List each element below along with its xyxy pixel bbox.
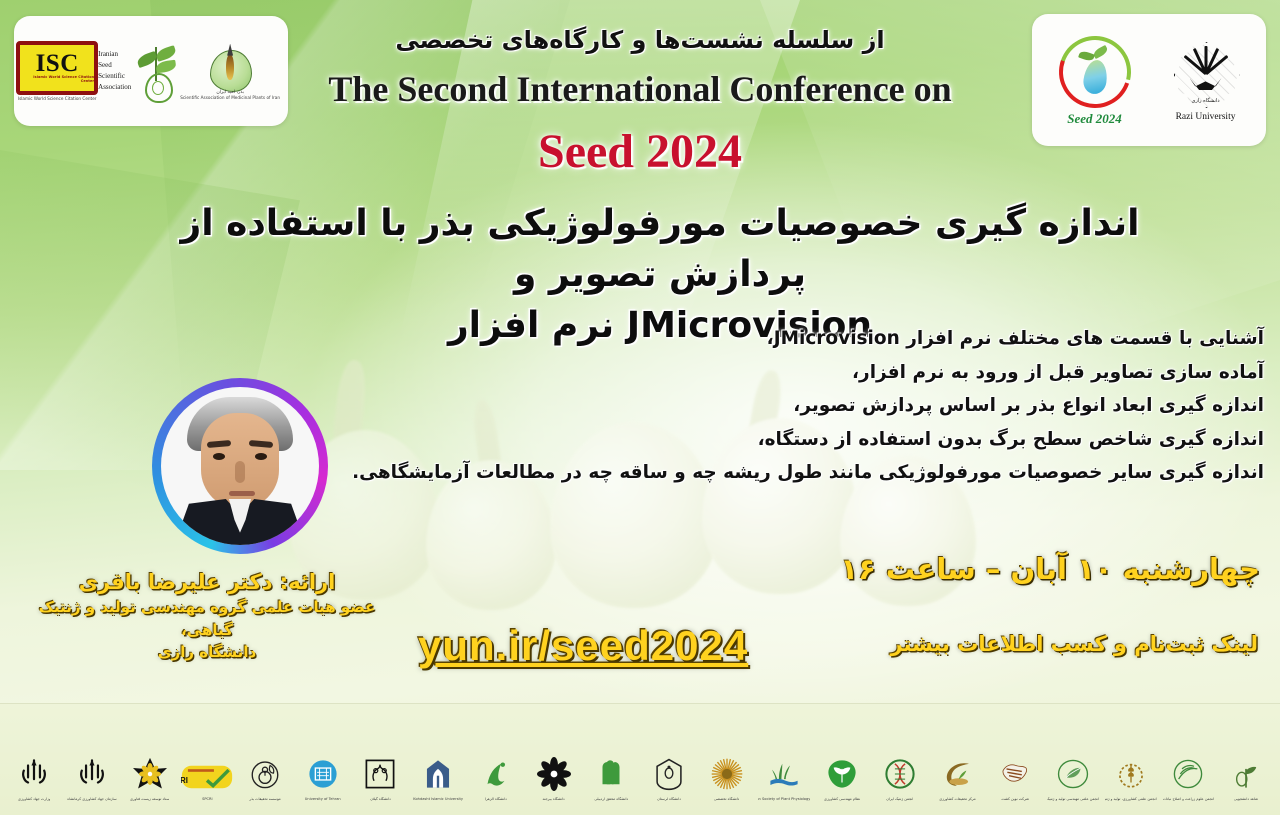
sponsor-caption: موسسه تحقیقات بذر bbox=[249, 797, 280, 801]
sponsor-gear-wheat: انجمن علمی کشاورزی، تولید و ژنتیک گیاهی bbox=[1105, 718, 1157, 802]
registration-label: لینک ثبت‌نام و کسب اطلاعات بیشتر bbox=[890, 632, 1258, 656]
sponsor-plant-physiology: Iranian Society of Plant Physiology bbox=[758, 718, 810, 802]
sponsor-caption: مرکز تحقیقات کشاورزی bbox=[939, 797, 975, 801]
sponsor-dna-circle: انجمن ژنتیک ایران bbox=[874, 718, 926, 802]
sponsor-caption: دانشگاه الزهرا bbox=[485, 797, 507, 801]
sponsor-caption: دانشگاه گیلان bbox=[370, 797, 391, 801]
sponsor-guilan-university: دانشگاه گیلان bbox=[354, 718, 406, 802]
list-item: اندازه گیری ابعاد انواع بذر بر اساس پردا… bbox=[524, 397, 1264, 416]
sponsor-green-tulip: دانشگاه محقق اردبیلی bbox=[585, 718, 637, 802]
oval-leaf-icon bbox=[1056, 757, 1090, 795]
avatar bbox=[152, 378, 328, 554]
sponsor-jahad-keshavarzi: سازمان جهاد کشاورزی کرمانشاه bbox=[66, 718, 118, 802]
gate-icon bbox=[421, 757, 455, 795]
list-item: آشنایی با قسمت های مختلف نرم افزار JMicr… bbox=[524, 330, 1264, 349]
sponsor-caption: University of Tehran bbox=[305, 797, 341, 801]
gear-wheat-icon bbox=[1114, 757, 1148, 795]
sponsor-oval-leaf: انجمن علمی مهندسی تولید و ژنتیک گیاهی ای… bbox=[1047, 718, 1099, 802]
sponsor-caption: وزارت جهاد کشاورزی bbox=[18, 797, 50, 801]
sponsor-star-flower: ستاد توسعه زیست فناوری bbox=[124, 718, 176, 802]
calligraphy-icon bbox=[479, 757, 513, 795]
registration-link[interactable]: yun.ir/seed2024 bbox=[418, 622, 748, 670]
conference-poster: بذر، امید ایران Scientific Association o… bbox=[0, 0, 1280, 815]
sponsor-caption: ستاد توسعه زیست فناوری bbox=[130, 797, 169, 801]
sponsor-caption: دانشگاه محقق اردبیلی bbox=[594, 797, 628, 801]
circle-blue-icon bbox=[306, 757, 340, 795]
sponsor-caption: Kohdasht Islamic University bbox=[413, 797, 463, 801]
list-item: آماده سازی تصاویر قبل از ورود به نرم افز… bbox=[524, 364, 1264, 383]
sponsor-caption: انجمن علوم زراعت و اصلاح نباتات bbox=[1163, 797, 1214, 801]
list-item: اندازه گیری شاخص سطح برگ بدون استفاده از… bbox=[524, 431, 1264, 450]
sponsor-seed-institute: موسسه تحقیقات بذر bbox=[239, 718, 291, 802]
sponsor-ministry-agriculture: وزارت جهاد کشاورزی bbox=[8, 718, 60, 802]
sponsor-logo-strip: شاهد دانشجوییانجمن علوم زراعت و اصلاح نب… bbox=[0, 703, 1280, 815]
sponsor-green-leaf-shield: نظام مهندسی کشاورزی bbox=[816, 718, 868, 802]
map-icon bbox=[998, 757, 1032, 795]
circle-calligraphy-icon bbox=[1171, 757, 1205, 795]
sunflower-icon bbox=[710, 757, 744, 795]
conference-brand: Seed 2024 bbox=[0, 124, 1280, 179]
sponsor-caption: SPCRI bbox=[202, 797, 213, 801]
svg-text:SPCRI: SPCRI bbox=[181, 776, 188, 785]
sponsor-caption: نظام مهندسی کشاورزی bbox=[824, 797, 860, 801]
sponsor-black-flower: دانشگاه بیرجند bbox=[528, 718, 580, 802]
title-line-1: اندازه گیری خصوصیات مورفولوژیکی بذر با ا… bbox=[110, 198, 1210, 300]
sponsor-alzahra-university: دانشگاه الزهرا bbox=[470, 718, 522, 802]
sponsor-caption: دانشگاه بیرجند bbox=[542, 797, 564, 801]
sponsor-caption: انجمن علمی مهندسی تولید و ژنتیک گیاهی ای… bbox=[1047, 797, 1099, 801]
sponsor-map-iran: شرکت نوین کشت bbox=[989, 718, 1041, 802]
flower-black-icon bbox=[537, 757, 571, 795]
sponsor-tehran-university: University of Tehran bbox=[297, 718, 349, 802]
presenter-name: ارائه: دکتر علیرضا باقری bbox=[12, 568, 402, 596]
kicker-line: از سلسله نشست‌ها و کارگاه‌های تخصصی bbox=[0, 26, 1280, 54]
shield-leaf-icon bbox=[825, 757, 859, 795]
sponsor-caption: دانشگاه تخصصی bbox=[714, 797, 739, 801]
conference-name-en: The Second International Conference on bbox=[0, 68, 1280, 110]
dna-icon bbox=[883, 757, 917, 795]
presenter-block: ارائه: دکتر علیرضا باقری عضو هیات علمی گ… bbox=[12, 568, 402, 664]
star-icon bbox=[133, 757, 167, 795]
sponsor-caption: انجمن ژنتیک ایران bbox=[886, 797, 913, 801]
sponsor-caption: دانشگاه لرستان bbox=[657, 797, 681, 801]
sponsor-sunflower-gold: دانشگاه تخصصی bbox=[701, 718, 753, 802]
list-item: اندازه گیری سایر خصوصیات مورفولوژیکی مان… bbox=[524, 464, 1264, 483]
sprout-icon bbox=[1229, 757, 1263, 795]
sponsor-lorestan-university: دانشگاه لرستان bbox=[643, 718, 695, 802]
ring-wheat-icon bbox=[248, 757, 282, 795]
tulip-icon bbox=[594, 757, 628, 795]
sponsor-spcri: SPCRISPCRI bbox=[181, 718, 233, 802]
emblem-icon bbox=[75, 757, 109, 795]
topics-list: آشنایی با قسمت های مختلف نرم افزار JMicr… bbox=[524, 330, 1264, 498]
square-seal-icon bbox=[363, 757, 397, 795]
sponsor-kohdasht-university: Kohdasht Islamic University bbox=[412, 718, 464, 802]
badge-icon: SPCRI bbox=[181, 763, 233, 795]
razi-caption: Razi University bbox=[1176, 112, 1236, 122]
presenter-affiliation: عضو هیات علمی گروه مهندسی تولید و ژنتیک … bbox=[12, 596, 402, 641]
crescent-icon bbox=[940, 757, 974, 795]
sponsor-crescent-seed: مرکز تحقیقات کشاورزی bbox=[931, 718, 983, 802]
emblem-icon bbox=[17, 757, 51, 795]
grass-water-icon bbox=[767, 757, 801, 795]
sponsor-caption: Iranian Society of Plant Physiology bbox=[758, 797, 810, 801]
event-datetime: چهارشنبه ۱۰ آبان – ساعت ۱۶ bbox=[620, 552, 1260, 586]
arch-icon bbox=[652, 757, 686, 795]
presenter-university: دانشگاه رازی bbox=[12, 641, 402, 664]
sponsor-caption: سازمان جهاد کشاورزی کرمانشاه bbox=[67, 797, 116, 801]
sponsor-caption: انجمن علمی کشاورزی، تولید و ژنتیک گیاهی bbox=[1105, 797, 1157, 801]
sponsor-caption: شاهد دانشجویی bbox=[1234, 797, 1258, 801]
sponsor-seal-green-circle: انجمن علوم زراعت و اصلاح نباتات bbox=[1162, 718, 1214, 802]
sponsor-caption: شرکت نوین کشت bbox=[1001, 797, 1029, 801]
sponsor-shahed-daneshjoui: شاهد دانشجویی bbox=[1220, 718, 1272, 802]
presenter-photo bbox=[161, 387, 319, 545]
